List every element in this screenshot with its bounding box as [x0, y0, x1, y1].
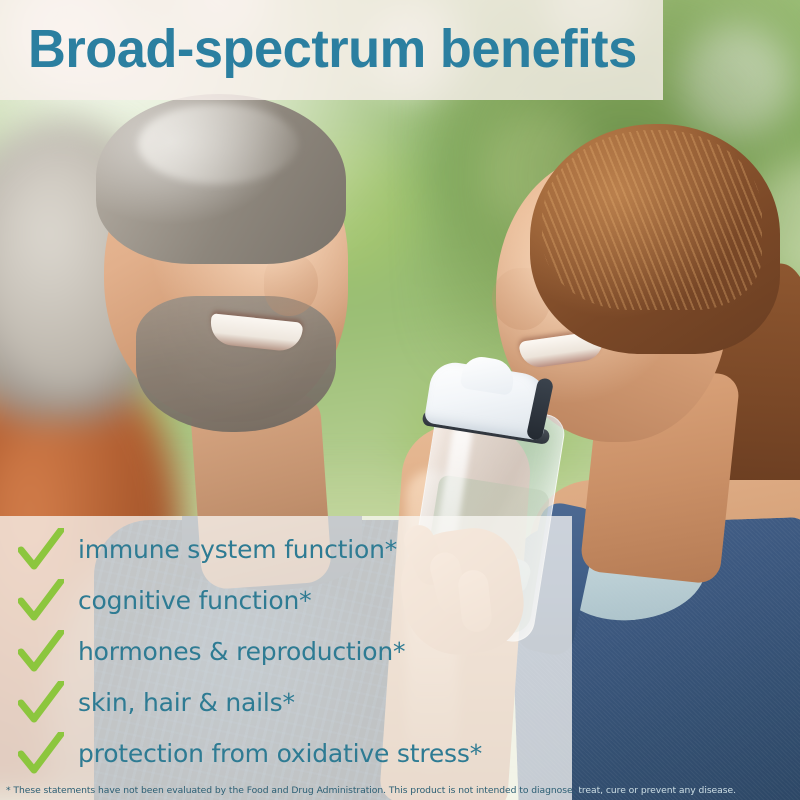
- list-item-label: skin, hair & nails*: [78, 690, 295, 715]
- benefits-poster: Broad-spectrum benefits immune system fu…: [0, 0, 800, 800]
- list-item-label: protection from oxidative stress*: [78, 741, 482, 766]
- check-icon: [18, 681, 64, 725]
- list-item-label: hormones & reproduction*: [78, 639, 405, 664]
- check-icon: [18, 630, 64, 674]
- benefits-list: immune system function* cognitive functi…: [0, 524, 572, 779]
- page-title: Broad-spectrum benefits: [28, 16, 629, 82]
- list-item-label: immune system function*: [78, 537, 397, 562]
- man-hair-highlight: [138, 104, 298, 184]
- check-icon: [18, 579, 64, 623]
- list-item: hormones & reproduction*: [0, 626, 572, 677]
- list-item: skin, hair & nails*: [0, 677, 572, 728]
- list-item: protection from oxidative stress*: [0, 728, 572, 779]
- list-item-label: cognitive function*: [78, 588, 311, 613]
- check-icon: [18, 528, 64, 572]
- list-item: cognitive function*: [0, 575, 572, 626]
- woman-hair-strands: [542, 130, 762, 310]
- list-item: immune system function*: [0, 524, 572, 575]
- check-icon: [18, 732, 64, 776]
